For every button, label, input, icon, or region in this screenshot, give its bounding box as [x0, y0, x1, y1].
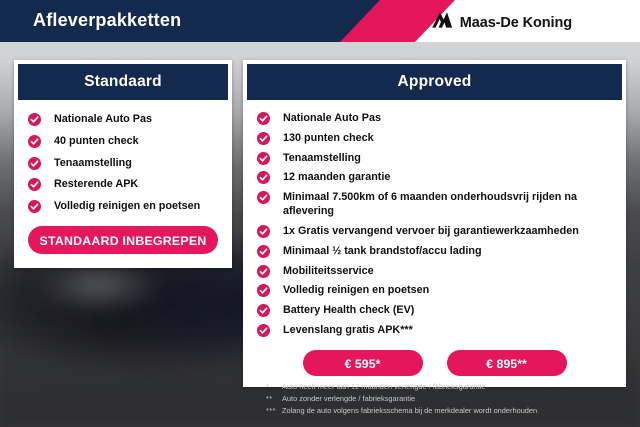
list-item: 1x Gratis vervangend vervoer bij garanti…: [257, 225, 626, 239]
price-button-595[interactable]: € 595*: [303, 350, 423, 376]
standard-included-button[interactable]: STANDAARD INBEGREPEN: [28, 226, 218, 254]
list-item: Volledig reinigen en poetsen: [257, 284, 626, 298]
standard-card-heading: Standaard: [18, 64, 228, 100]
list-item: Minimaal 7.500km of 6 maanden onderhouds…: [257, 191, 626, 219]
page-header: Afleverpakketten Maas-De Koning: [0, 0, 640, 42]
check-circle-icon: [28, 135, 41, 148]
list-item-label: 12 maanden garantie: [283, 171, 390, 183]
list-item: Mobiliteitsservice: [257, 265, 626, 279]
list-item-label: Minimaal ½ tank brandstof/accu lading: [283, 245, 482, 257]
approved-package-card: Approved Nationale Auto Pas 130 punten c…: [243, 60, 626, 387]
list-item: Battery Health check (EV): [257, 304, 626, 318]
list-item: Nationale Auto Pas: [28, 113, 232, 127]
check-circle-icon: [257, 304, 270, 317]
footnote-marker: *: [266, 381, 282, 393]
footnote-text: Auto zonder verlengde / fabrieksgarantie: [282, 393, 415, 405]
maas-m-logo-icon: [431, 11, 453, 34]
check-circle-icon: [257, 132, 270, 145]
check-circle-icon: [28, 113, 41, 126]
list-item-label: 130 punten check: [283, 132, 374, 144]
footnote-single-asterisk: * Auto heeft meer dan 12 maanden verleng…: [266, 381, 626, 393]
footnote-triple-asterisk: *** Zolang de auto volgens fabrieksschem…: [266, 405, 626, 417]
check-circle-icon: [257, 245, 270, 258]
footnote-marker: ***: [266, 405, 282, 417]
check-circle-icon: [28, 157, 41, 170]
approved-feature-list: Nationale Auto Pas 130 punten check Tena…: [243, 100, 626, 338]
check-circle-icon: [257, 171, 270, 184]
list-item-label: Nationale Auto Pas: [283, 112, 381, 124]
list-item: Nationale Auto Pas: [257, 112, 626, 126]
check-circle-icon: [257, 152, 270, 165]
standard-feature-list: Nationale Auto Pas 40 punten check Tenaa…: [14, 100, 232, 214]
footnote-marker: **: [266, 393, 282, 405]
check-circle-icon: [257, 112, 270, 125]
list-item: Tenaamstelling: [28, 157, 232, 171]
footnote-double-asterisk: ** Auto zonder verlengde / fabrieksgaran…: [266, 393, 626, 405]
footnote-text: Zolang de auto volgens fabrieksschema bi…: [282, 405, 537, 417]
list-item-label: Battery Health check (EV): [283, 304, 414, 316]
check-circle-icon: [28, 178, 41, 191]
list-item-label: Nationale Auto Pas: [54, 113, 152, 125]
list-item-label: Resterende APK: [54, 178, 138, 190]
list-item: Resterende APK: [28, 178, 232, 192]
brand-lockup: Maas-De Koning: [431, 11, 572, 34]
footnotes: * Auto heeft meer dan 12 maanden verleng…: [266, 381, 626, 417]
check-circle-icon: [257, 284, 270, 297]
list-item-label: Volledig reinigen en poetsen: [283, 284, 429, 296]
list-item-label: Tenaamstelling: [283, 152, 361, 164]
list-item-label: 1x Gratis vervangend vervoer bij garanti…: [283, 225, 579, 237]
list-item: Minimaal ½ tank brandstof/accu lading: [257, 245, 626, 259]
check-circle-icon: [28, 200, 41, 213]
list-item: Volledig reinigen en poetsen: [28, 200, 232, 214]
footnote-text: Auto heeft meer dan 12 maanden verlengde…: [282, 381, 485, 393]
list-item-label: Minimaal 7.500km of 6 maanden onderhouds…: [283, 191, 577, 217]
list-item: 12 maanden garantie: [257, 171, 626, 185]
check-circle-icon: [257, 265, 270, 278]
price-button-895[interactable]: € 895**: [447, 350, 567, 376]
approved-card-heading: Approved: [247, 64, 622, 100]
list-item: Tenaamstelling: [257, 152, 626, 166]
brand-name: Maas-De Koning: [460, 15, 572, 31]
background-blur-highlight: [40, 262, 160, 310]
list-item-label: Volledig reinigen en poetsen: [54, 200, 200, 212]
list-item: 130 punten check: [257, 132, 626, 146]
page-title: Afleverpakketten: [33, 10, 181, 31]
list-item-label: Tenaamstelling: [54, 157, 132, 169]
check-circle-icon: [257, 191, 270, 204]
list-item: 40 punten check: [28, 135, 232, 149]
list-item-label: Mobiliteitsservice: [283, 265, 374, 277]
list-item: Levenslang gratis APK***: [257, 324, 626, 338]
standard-package-card: Standaard Nationale Auto Pas 40 punten c…: [14, 60, 232, 268]
list-item-label: Levenslang gratis APK***: [283, 324, 413, 336]
check-circle-icon: [257, 324, 270, 337]
price-button-row: € 595* € 895**: [243, 350, 626, 378]
check-circle-icon: [257, 225, 270, 238]
slide-canvas: Afleverpakketten Maas-De Koning Standaar…: [0, 0, 640, 427]
list-item-label: 40 punten check: [54, 135, 139, 147]
